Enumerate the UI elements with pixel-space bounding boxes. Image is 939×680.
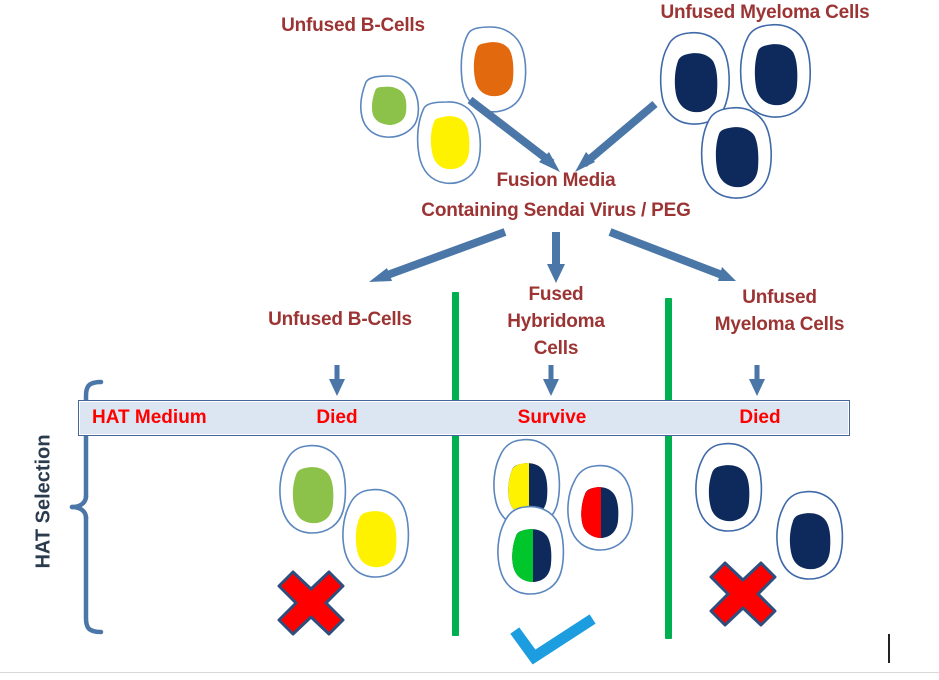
arrow-fusion-to-b-cells: [369, 232, 505, 282]
myeloma-cell-3: [702, 108, 772, 198]
text-cursor: [888, 634, 890, 663]
red-cross-icon-myeloma: [711, 563, 775, 625]
hat-medium-label: HAT Medium: [92, 406, 252, 430]
arrow-fusion-to-hybridoma: [547, 232, 565, 283]
down-arrow-hybridoma: [543, 365, 559, 396]
myeloma-cell-bottom-2: [777, 492, 842, 579]
status-myeloma: Died: [700, 406, 820, 430]
hat-selection-label: HAT Selection: [33, 427, 56, 577]
myeloma-cell-2: [741, 25, 811, 117]
diagram-artwork: [0, 0, 939, 680]
red-cross-icon-b-cells: [279, 572, 343, 634]
down-arrow-b-cells: [329, 365, 345, 396]
arrow-b-cells-to-fusion: [470, 100, 560, 172]
green-divider-right: [665, 298, 672, 639]
status-b-cells: Died: [277, 406, 397, 430]
column-heading-myeloma-line2: Myeloma Cells: [692, 313, 867, 336]
arrow-fusion-to-myeloma: [610, 232, 736, 281]
b-cell-bottom-green: [280, 446, 345, 533]
label-fusion-media-line2: Containing Sendai Virus / PEG: [386, 199, 726, 222]
arrow-myeloma-to-fusion: [575, 104, 655, 172]
blue-check-icon-hybridoma: [518, 622, 588, 657]
b-cell-bottom-yellow: [343, 490, 408, 577]
myeloma-cell-bottom-1: [696, 444, 761, 531]
hybridoma-cell-green-navy: [498, 507, 563, 594]
green-divider-left: [452, 292, 459, 636]
status-hybridoma: Survive: [492, 406, 612, 430]
hybridoma-cell-red-navy: [568, 466, 632, 550]
b-cell-green: [361, 76, 419, 137]
diagram-canvas: HAT Medium Died Survive Died Unfused B-C…: [0, 0, 939, 680]
column-heading-hybridoma-line3: Cells: [486, 337, 626, 360]
hybridoma-cell-group: [494, 440, 632, 594]
b-cell-group-bottom: [280, 446, 408, 577]
label-unfused-b-cells-top: Unfused B-Cells: [258, 14, 448, 37]
label-fusion-media-line1: Fusion Media: [426, 169, 686, 192]
b-cell-group-top: [361, 27, 526, 183]
page-bottom-divider: [0, 672, 939, 673]
column-heading-hybridoma-line1: Fused: [486, 283, 626, 306]
down-arrow-myeloma: [749, 365, 765, 396]
column-heading-myeloma-line1: Unfused: [692, 286, 867, 309]
column-heading-hybridoma-line2: Hybridoma: [486, 310, 626, 333]
myeloma-cell-group-bottom: [696, 444, 842, 579]
label-unfused-myeloma-top: Unfused Myeloma Cells: [620, 1, 910, 24]
column-heading-b-cells: Unfused B-Cells: [250, 308, 430, 331]
